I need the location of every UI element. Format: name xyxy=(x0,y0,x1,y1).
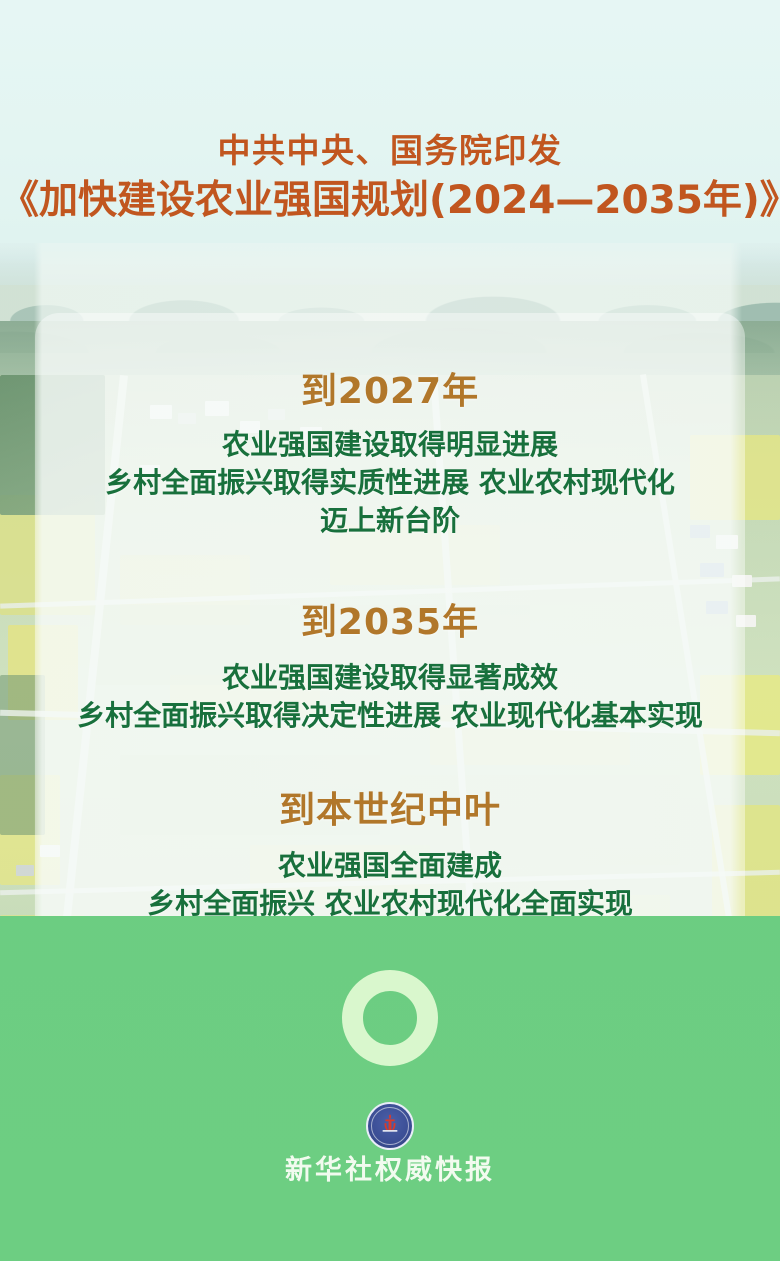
milestone-lines-2035: 农业强国建设取得显著成效 乡村全面振兴取得决定性进展 农业现代化基本实现 xyxy=(0,659,780,735)
milestone-lines-midcentury: 农业强国全面建成 乡村全面振兴 农业农村现代化全面实现 xyxy=(0,847,780,923)
milestone-year-midcentury: 到本世纪中叶 xyxy=(0,789,780,833)
milestone-line: 迈上新台阶 xyxy=(0,502,780,540)
green-arc-right xyxy=(0,916,780,1261)
header-band: 中共中央、国务院印发 《加快建设农业强国规划(2024—2035年)》 xyxy=(0,0,780,243)
decorative-ring-icon xyxy=(342,970,438,1066)
milestone-line: 农业强国建设取得显著成效 xyxy=(0,659,780,697)
milestone-block-midcentury: 到本世纪中叶 农业强国全面建成 乡村全面振兴 农业农村现代化全面实现 xyxy=(0,789,780,923)
milestone-line: 农业强国全面建成 xyxy=(0,847,780,885)
milestone-line: 乡村全面振兴取得实质性进展 农业农村现代化 xyxy=(0,464,780,502)
page-title-line1: 中共中央、国务院印发 xyxy=(0,132,780,170)
milestone-line: 农业强国建设取得明显进展 xyxy=(0,426,780,464)
footer-brand-text: 新华社权威快报 xyxy=(0,1154,780,1188)
footer-green-band: 新华社权威快报 xyxy=(0,916,780,1261)
infographic-poster: 中共中央、国务院印发 《加快建设农业强国规划(2024—2035年)》 到202… xyxy=(0,0,780,1261)
xinhua-logo-icon xyxy=(366,1102,414,1150)
milestone-block-2035: 到2035年 农业强国建设取得显著成效 乡村全面振兴取得决定性进展 农业现代化基… xyxy=(0,601,780,735)
milestone-line: 乡村全面振兴取得决定性进展 农业现代化基本实现 xyxy=(0,697,780,735)
milestone-lines-2027: 农业强国建设取得明显进展 乡村全面振兴取得实质性进展 农业农村现代化 迈上新台阶 xyxy=(0,426,780,540)
milestone-block-2027: 到2027年 农业强国建设取得明显进展 乡村全面振兴取得实质性进展 农业农村现代… xyxy=(0,370,780,540)
milestone-year-2035: 到2035年 xyxy=(0,601,780,645)
milestone-year-2027: 到2027年 xyxy=(0,370,780,414)
xinhua-emblem-glyph xyxy=(379,1113,401,1135)
page-title-line2: 《加快建设农业强国规划(2024—2035年)》 xyxy=(0,178,780,224)
title-wrap: 中共中央、国务院印发 《加快建设农业强国规划(2024—2035年)》 xyxy=(0,0,780,224)
